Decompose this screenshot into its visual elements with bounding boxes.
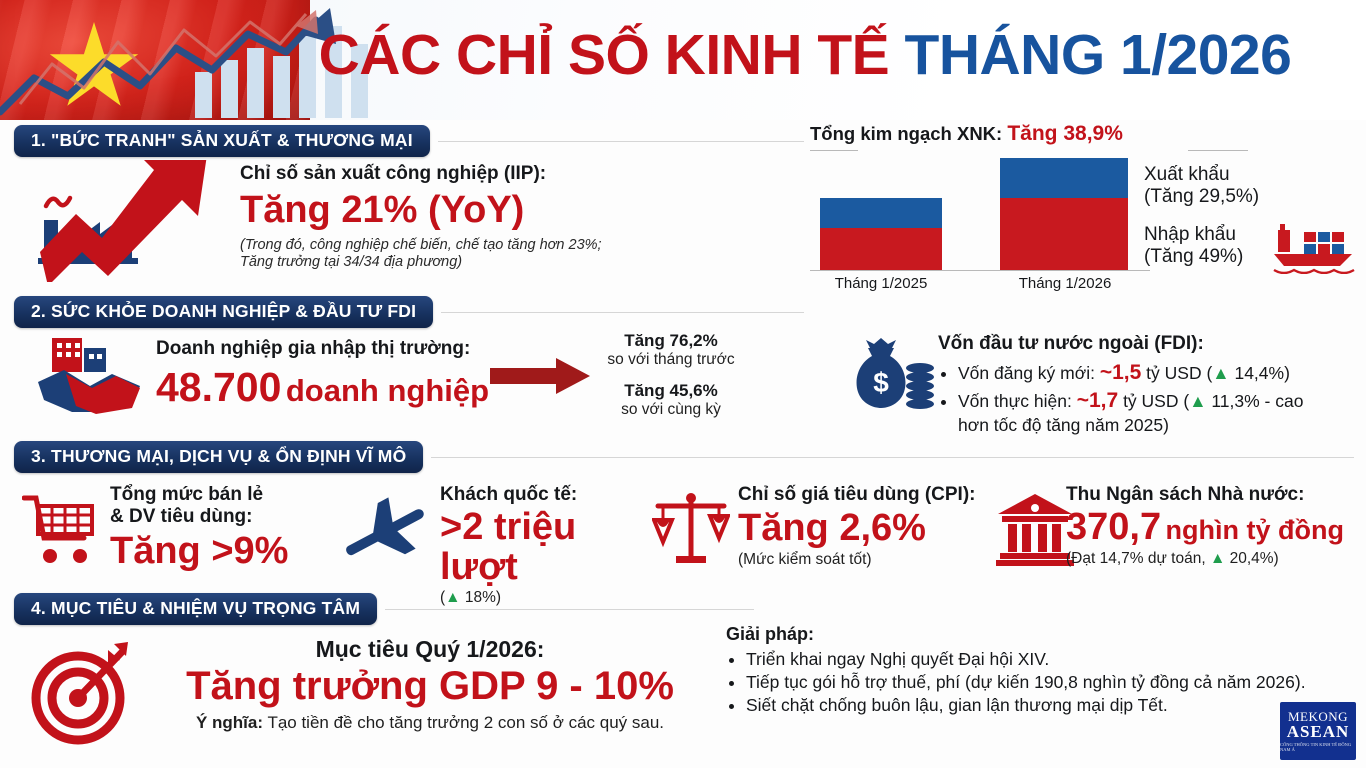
budget-value: 370,7 (1066, 506, 1161, 548)
chart-title-rule-right (1188, 150, 1248, 151)
target-label: Mục tiêu Quý 1/2026: (150, 636, 710, 663)
chart-title-rule-left (810, 150, 858, 151)
bar-segment-export (1000, 158, 1128, 198)
budget-label: Thu Ngân sách Nhà nước: (1066, 484, 1366, 506)
fdi-item-1: Vốn đăng ký mới: ~1,5 tỷ USD (▲ 14,4%) (958, 359, 1366, 387)
bar-label-2026: Tháng 1/2026 (992, 275, 1138, 292)
solutions-list: Triển khai ngay Nghị quyết Đại hội XIV. … (726, 648, 1306, 717)
legend-export-detail: (Tăng 29,5%) (1144, 186, 1259, 208)
solutions-heading: Giải pháp: (726, 624, 1306, 645)
section-2-rule (441, 312, 804, 313)
tourism-label: Khách quốc tế: (440, 484, 650, 506)
section-1-label: 1. "BỨC TRANH" SẢN XUẤT & THƯƠNG MẠI (14, 125, 430, 157)
target-meaning-text: Tạo tiền đề cho tăng trưởng 2 con số ở c… (263, 713, 664, 732)
page-title: CÁC CHỈ SỐ KINH TẾ THÁNG 1/2026 (260, 22, 1350, 92)
fdi-item-2-arrow-icon: ▲ (1189, 391, 1206, 411)
chart-title-value: Tăng 38,9% (1007, 122, 1123, 145)
compare-2-value: Tăng 45,6% (586, 381, 756, 401)
cargo-ship-icon (1270, 220, 1356, 274)
chart-title: Tổng kim ngạch XNK: Tăng 38,9% (810, 122, 1123, 146)
target-block: Mục tiêu Quý 1/2026: Tăng trưởng GDP 9 -… (150, 636, 710, 733)
fdi-item-1-prefix: Vốn đăng ký mới: (958, 363, 1100, 383)
cpi-label: Chỉ số giá tiêu dùng (CPI): (738, 484, 1018, 506)
fdi-item-1-value: ~1,5 (1100, 361, 1141, 384)
solutions-item: Siết chặt chống buôn lậu, gian lận thươn… (746, 694, 1306, 717)
fdi-item-2-continued: hơn tốc độ tăng năm 2025) (958, 414, 1366, 437)
xnk-bar-chart: Tổng kim ngạch XNK: Tăng 38,9% Tháng 1/2… (810, 120, 1366, 295)
fdi-item-2-suffix: tỷ USD ( (1118, 391, 1189, 411)
budget-unit: nghìn tỷ đồng (1166, 515, 1344, 545)
fdi-item-2-value: ~1,7 (1077, 389, 1118, 412)
fdi-item-2: Vốn thực hiện: ~1,7 tỷ USD (▲ 11,3% - ca… (958, 387, 1366, 415)
iip-note-line1: (Trong đó, công nghiệp chế biến, chế tạo… (240, 237, 660, 255)
section-3-label: 3. THƯƠNG MẠI, DỊCH VỤ & ỔN ĐỊNH VĨ MÔ (14, 441, 423, 473)
business-compare-2: Tăng 45,6% so với cùng kỳ (586, 381, 756, 419)
tourism-value: >2 triệu lượt (440, 508, 650, 587)
solutions-item: Triển khai ngay Nghị quyết Đại hội XIV. (746, 648, 1306, 671)
section-4-rule (385, 609, 754, 610)
solutions-item: Tiếp tục gói hỗ trợ thuế, phí (dự kiến 1… (746, 671, 1306, 694)
business-value: 48.700 (156, 364, 281, 410)
right-arrow-icon (490, 356, 594, 396)
cpi-value: Tăng 2,6% (738, 509, 1018, 549)
fdi-item-2-pct: 11,3% - cao (1207, 391, 1304, 411)
section-header-4: 4. MỤC TIÊU & NHIỆM VỤ TRỌNG TÂM (14, 594, 754, 624)
svg-text:$: $ (873, 367, 889, 398)
legend-import-name: Nhập khẩu (1144, 224, 1243, 246)
bar-thang-1-2026 (1000, 158, 1128, 270)
legend-import: Nhập khẩu (Tăng 49%) (1144, 224, 1243, 269)
fdi-item-1-pct: 14,4%) (1230, 363, 1290, 383)
fdi-list: Vốn đăng ký mới: ~1,5 tỷ USD (▲ 14,4%) V… (938, 359, 1366, 414)
fdi-block: Vốn đầu tư nước ngoài (FDI): Vốn đăng ký… (938, 333, 1366, 438)
business-unit: doanh nghiệp (286, 373, 489, 408)
section-header-1: 1. "BỨC TRANH" SẢN XUẤT & THƯƠNG MẠI (14, 126, 804, 156)
budget-value-row: 370,7 nghìn tỷ đồng (1066, 508, 1366, 548)
fdi-item-1-arrow-icon: ▲ (1212, 363, 1229, 383)
bar-label-2025: Tháng 1/2025 (810, 275, 952, 292)
logo-line-3: CỔNG THÔNG TIN KINH TẾ ĐÔNG NAM Á (1280, 743, 1356, 752)
tourism-block: Khách quốc tế: >2 triệu lượt (▲ 18%) (440, 484, 650, 607)
logo-line-2: ASEAN (1287, 723, 1350, 740)
scales-icon (652, 490, 730, 568)
section-header-3: 3. THƯƠNG MẠI, DỊCH VỤ & ỔN ĐỊNH VĨ MÔ (14, 442, 1354, 472)
hero-banner: CÁC CHỈ SỐ KINH TẾ THÁNG 1/2026 (0, 0, 1366, 120)
legend-import-detail: (Tăng 49%) (1144, 246, 1243, 268)
compare-1-value: Tăng 76,2% (586, 331, 756, 351)
handshake-icon (36, 334, 144, 416)
airplane-icon (340, 496, 434, 566)
section-3-rule (431, 457, 1354, 458)
compare-1-text: so với tháng trước (586, 351, 756, 369)
budget-up-arrow-icon: ▲ (1210, 550, 1225, 567)
section-1-rule (438, 141, 804, 142)
target-icon (28, 640, 134, 746)
legend-export-name: Xuất khẩu (1144, 164, 1259, 186)
infographic-page: CÁC CHỈ SỐ KINH TẾ THÁNG 1/2026 1. "BỨC … (0, 0, 1366, 768)
budget-note-prefix: (Đạt 14,7% dự toán, (1066, 550, 1210, 567)
retail-label-line1: Tổng mức bán lẻ (110, 484, 330, 506)
fdi-item-2-prefix: Vốn thực hiện: (958, 391, 1077, 411)
factory-icon (22, 160, 222, 282)
fdi-item-1-suffix: tỷ USD ( (1141, 363, 1212, 383)
budget-note-suffix: 20,4%) (1225, 550, 1278, 567)
iip-block: Chỉ số sản xuất công nghiệp (IIP): Tăng … (240, 163, 660, 272)
bar-thang-1-2025 (820, 198, 942, 270)
business-compare-1: Tăng 76,2% so với tháng trước (586, 331, 756, 369)
target-meaning: Ý nghĩa: Tạo tiền đề cho tăng trưởng 2 c… (150, 713, 710, 733)
cpi-note: (Mức kiểm soát tốt) (738, 551, 1018, 569)
fdi-label: Vốn đầu tư nước ngoài (FDI): (938, 333, 1366, 355)
solutions-block: Giải pháp: Triển khai ngay Nghị quyết Đạ… (726, 624, 1306, 717)
budget-block: Thu Ngân sách Nhà nước: 370,7 nghìn tỷ đ… (1066, 484, 1366, 568)
section-4-label: 4. MỤC TIÊU & NHIỆM VỤ TRỌNG TÂM (14, 593, 377, 625)
budget-note: (Đạt 14,7% dự toán, ▲ 20,4%) (1066, 550, 1366, 568)
target-value: Tăng trưởng GDP 9 - 10% (150, 666, 710, 708)
iip-label: Chỉ số sản xuất công nghiệp (IIP): (240, 163, 660, 185)
chart-x-axis (810, 270, 1150, 271)
retail-label-line2: & DV tiêu dùng: (110, 506, 330, 528)
retail-block: Tổng mức bán lẻ & DV tiêu dùng: Tăng >9% (110, 484, 330, 572)
chart-title-label: Tổng kim ngạch XNK: (810, 123, 1002, 144)
iip-note-line2: Tăng trưởng tại 34/34 địa phương) (240, 254, 660, 272)
bar-segment-import (820, 228, 942, 270)
target-meaning-label: Ý nghĩa: (196, 713, 263, 732)
mekong-asean-logo: MEKONG ASEAN CỔNG THÔNG TIN KINH TẾ ĐÔNG… (1280, 702, 1356, 760)
section-2-label: 2. SỨC KHỎE DOANH NGHIỆP & ĐẦU TƯ FDI (14, 296, 433, 328)
shopping-cart-icon (22, 492, 98, 566)
compare-2-text: so với cùng kỳ (586, 401, 756, 419)
bar-segment-import (1000, 198, 1128, 270)
bank-icon (996, 492, 1074, 566)
money-bag-icon: $ (850, 334, 936, 412)
legend-export: Xuất khẩu (Tăng 29,5%) (1144, 164, 1259, 209)
cpi-block: Chỉ số giá tiêu dùng (CPI): Tăng 2,6% (M… (738, 484, 1018, 569)
bar-segment-export (820, 198, 942, 228)
retail-value: Tăng >9% (110, 532, 330, 572)
title-blue: THÁNG 1/2026 (905, 23, 1292, 87)
title-red: CÁC CHỈ SỐ KINH TẾ (319, 23, 890, 87)
section-header-2: 2. SỨC KHỎE DOANH NGHIỆP & ĐẦU TƯ FDI (14, 297, 804, 327)
iip-value: Tăng 21% (YoY) (240, 191, 660, 231)
